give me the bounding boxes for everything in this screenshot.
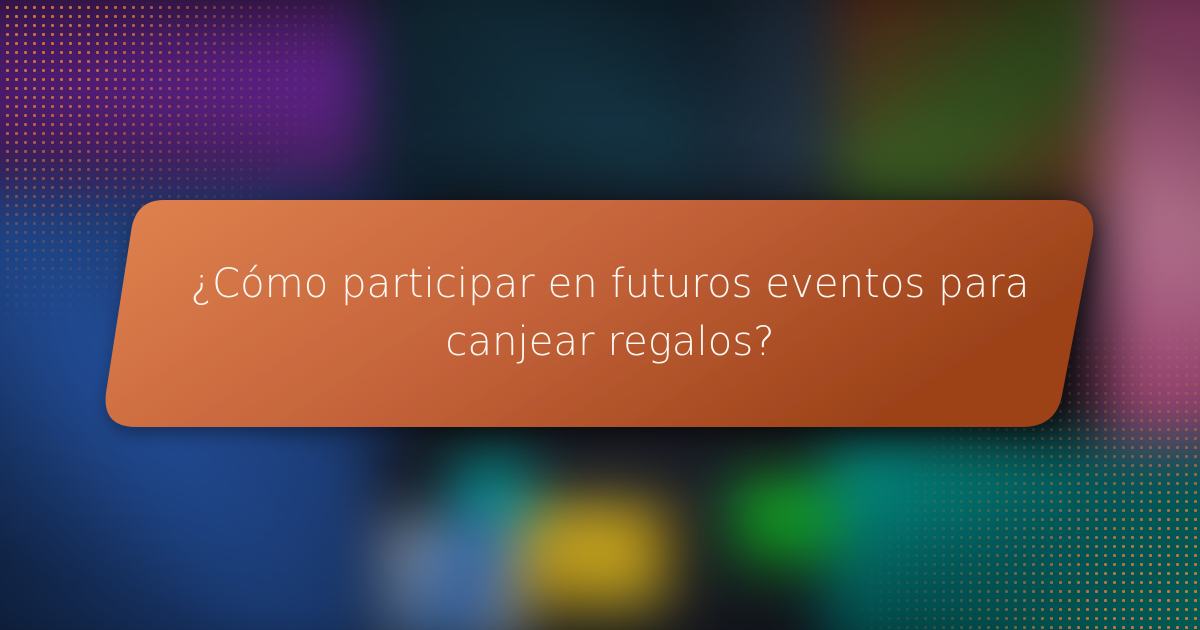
tile-blue-vehicle [0, 186, 410, 630]
background-collage [0, 0, 1200, 630]
tile-blue-orb [387, 522, 521, 630]
social-share-card: ¿Cómo participar en futuros eventos para… [0, 0, 1200, 630]
tile-cyan-blob [454, 455, 532, 522]
tile-purple-character [0, 0, 376, 203]
tile-green-item [734, 477, 835, 567]
tile-yellow-sprites [522, 505, 668, 611]
tile-red-green-art [835, 0, 1137, 203]
tile-teal-character [824, 444, 1200, 630]
tile-magenta-right [1104, 0, 1200, 444]
tile-dark-teal-scene [365, 0, 735, 203]
